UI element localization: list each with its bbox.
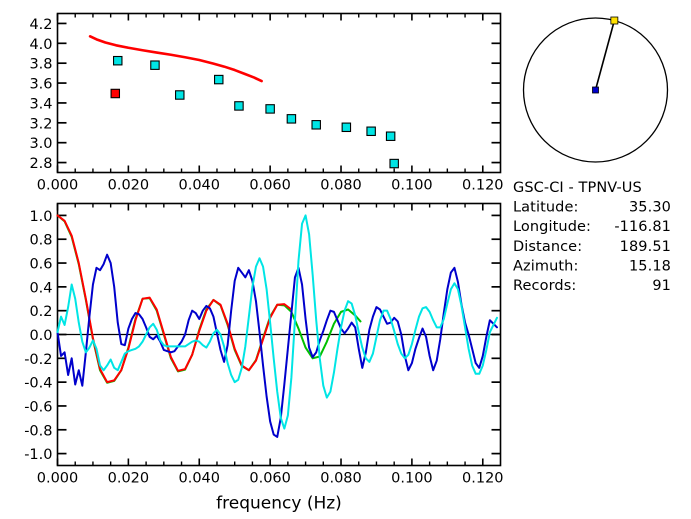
dispersion-xtick-label: 0.040	[179, 178, 221, 194]
waveform-ytick-label: -1.0	[24, 447, 52, 463]
station-info-label: Latitude:	[513, 200, 578, 216]
dispersion-ytick-label: 3.8	[29, 57, 52, 73]
dispersion-ytick-label: 3.4	[29, 96, 52, 112]
waveform-xtick-label: 0.020	[108, 471, 150, 487]
station-info-label: Distance:	[513, 239, 582, 255]
dispersion-plot-frame	[58, 14, 501, 173]
waveform-ytick-label: -0.6	[24, 399, 52, 415]
waveform-axes: 0.0000.0200.0400.0600.0800.1000.120-1.0-…	[24, 204, 503, 487]
dispersion-ytick-label: 4.0	[29, 37, 52, 53]
dispersion-ytick-label: 3.0	[29, 136, 52, 152]
waveform-ytick-label: 0.2	[29, 304, 52, 320]
data-point-marker	[215, 75, 223, 83]
seismic-dispersion-figure: 0.0000.0200.0400.0600.0800.1000.1202.83.…	[0, 0, 691, 519]
station-info-value: 189.51	[620, 239, 671, 255]
waveform-xtick-label: 0.040	[179, 471, 221, 487]
waveform-ytick-label: 0.6	[29, 257, 52, 273]
station-info-value: 91	[652, 278, 671, 294]
data-point-marker	[151, 61, 159, 69]
waveform-xtick-label: 0.080	[320, 471, 362, 487]
data-point-marker	[235, 102, 243, 110]
station-info-value: -116.81	[614, 219, 671, 235]
data-point-marker	[114, 57, 122, 65]
dispersion-ytick-label: 3.6	[29, 77, 52, 93]
waveform-ytick-label: -0.4	[24, 376, 52, 392]
dispersion-data-layer	[90, 36, 398, 167]
blue-observed-trace	[58, 255, 497, 437]
figure-root: 0.0000.0200.0400.0600.0800.1000.1202.83.…	[0, 0, 691, 519]
event-epicenter-marker	[593, 87, 599, 93]
waveform-data-layer	[58, 215, 501, 437]
data-point-marker	[386, 132, 394, 140]
dispersion-xtick-label: 0.100	[391, 178, 433, 194]
station-info-value: 15.18	[629, 258, 671, 274]
waveform-xtick-label: 0.000	[37, 471, 79, 487]
station-info-panel: GSC-CI - TPNV-USLatitude:35.30Longitude:…	[513, 180, 671, 294]
station-location-marker	[611, 17, 618, 24]
great-circle-path-line	[596, 21, 615, 90]
waveform-ytick-label: 1.0	[29, 209, 52, 225]
data-point-marker	[342, 123, 350, 131]
waveform-ytick-label: 0.0	[29, 328, 52, 344]
data-point-marker	[176, 91, 184, 99]
waveform-xtick-label: 0.120	[462, 471, 504, 487]
dispersion-xtick-label: 0.080	[320, 178, 362, 194]
data-point-marker	[287, 115, 295, 123]
waveform-xtick-label: 0.100	[391, 471, 433, 487]
cyan-observed-trace	[58, 215, 497, 428]
waveform-ytick-label: -0.8	[24, 423, 52, 439]
data-point-marker	[312, 121, 320, 129]
station-info-label: Azimuth:	[513, 258, 578, 274]
dispersion-ytick-label: 4.2	[29, 17, 52, 33]
map-inset	[524, 17, 668, 162]
highlighted-outlier-point	[111, 89, 119, 97]
waveform-ytick-label: -0.2	[24, 352, 52, 368]
station-info-label: Longitude:	[513, 219, 591, 235]
station-info-title: GSC-CI - TPNV-US	[513, 180, 642, 196]
waveform-ytick-label: 0.4	[29, 280, 52, 296]
waveform-ytick-label: 0.8	[29, 233, 52, 249]
measured-group-velocity-points	[114, 57, 399, 168]
waveform-xtick-label: 0.060	[249, 471, 291, 487]
dispersion-ytick-label: 2.8	[29, 156, 52, 172]
dispersion-xtick-label: 0.020	[108, 178, 150, 194]
dispersion-xtick-label: 0.120	[462, 178, 504, 194]
data-point-marker	[367, 127, 375, 135]
data-point-marker	[111, 89, 119, 97]
station-info-value: 35.30	[629, 200, 671, 216]
dispersion-xtick-label: 0.000	[37, 178, 79, 194]
xaxis-title: frequency (Hz)	[216, 494, 342, 514]
station-info-label: Records:	[513, 278, 576, 294]
data-point-marker	[390, 159, 398, 167]
dispersion-xtick-label: 0.060	[249, 178, 291, 194]
data-point-marker	[266, 105, 274, 113]
dispersion-ytick-label: 3.2	[29, 116, 52, 132]
